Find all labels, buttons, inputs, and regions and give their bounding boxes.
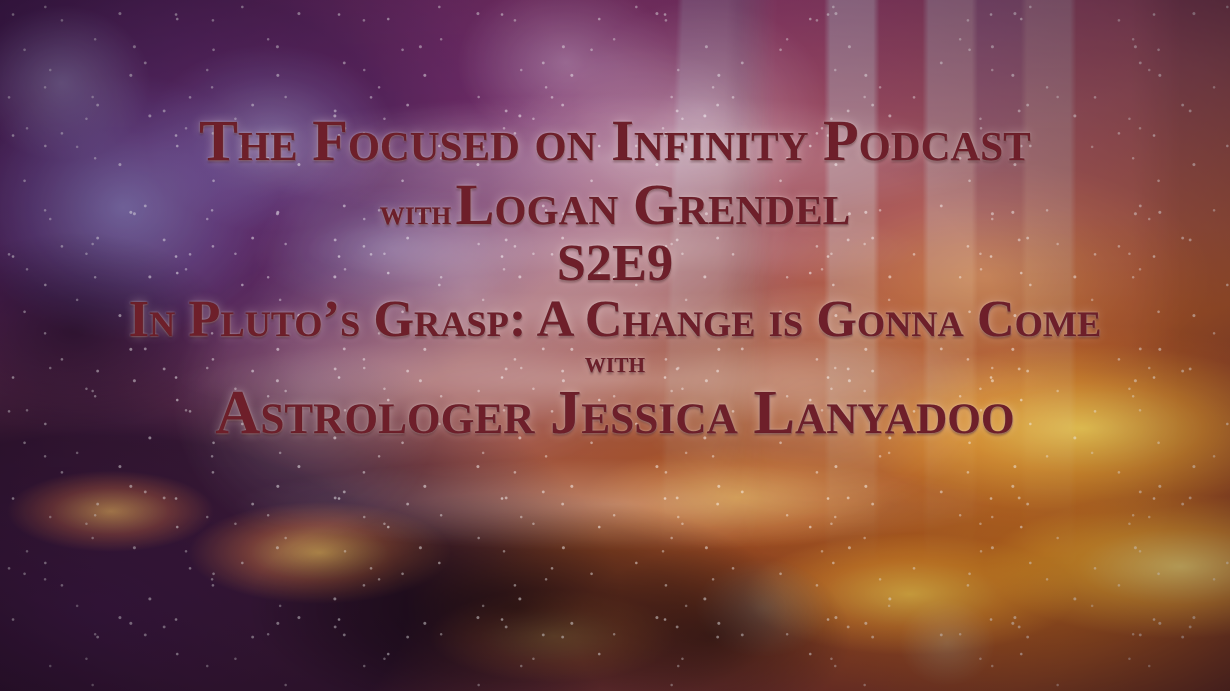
guest-name: Astrologer Jessica Lanyadoo	[0, 382, 1230, 444]
episode-code: S2E9	[0, 238, 1230, 290]
show-title: The Focused on Infinity Podcast	[0, 112, 1230, 170]
host-name: Logan Grendel	[456, 172, 851, 237]
episode-title: In Pluto’s Grasp: A Change is Gonna Come	[0, 294, 1230, 346]
podcast-cover-art: The Focused on Infinity Podcast withLoga…	[0, 0, 1230, 691]
host-prefix: with	[380, 192, 452, 232]
guest-prefix: with	[0, 348, 1230, 378]
title-block: The Focused on Infinity Podcast withLoga…	[0, 112, 1230, 444]
host-line: withLogan Grendel	[0, 176, 1230, 234]
